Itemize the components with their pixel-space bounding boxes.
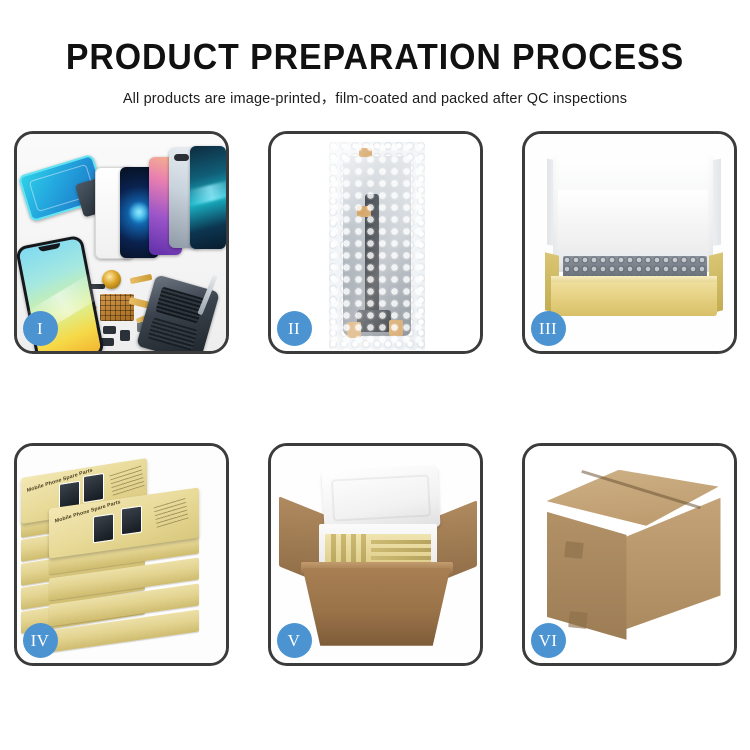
process-step-2: II bbox=[268, 131, 483, 354]
plastic-gloss bbox=[329, 142, 425, 350]
retail-box-edge bbox=[371, 556, 431, 560]
box-printed-text bbox=[153, 497, 188, 528]
box-product-image bbox=[83, 473, 104, 503]
carton-tape-patch bbox=[568, 611, 588, 629]
step-badge-6: VI bbox=[531, 623, 566, 658]
step-badge-1: I bbox=[23, 311, 58, 346]
process-step-5: V bbox=[268, 443, 483, 666]
retail-box-edge bbox=[371, 540, 431, 544]
carton-body bbox=[303, 568, 451, 646]
retail-box-edge bbox=[371, 548, 431, 552]
spare-part-chip bbox=[120, 330, 130, 341]
step-badge-4: IV bbox=[23, 623, 58, 658]
foam-sheet bbox=[558, 190, 708, 252]
step-badge-5: V bbox=[277, 623, 312, 658]
process-step-3: III bbox=[522, 131, 737, 354]
process-step-grid: I II bbox=[0, 131, 750, 666]
page-subtitle: All products are image-printed，film-coat… bbox=[0, 87, 750, 108]
box-product-image bbox=[121, 505, 142, 535]
step-badge-3: III bbox=[531, 311, 566, 346]
carton-tape-patch bbox=[564, 541, 584, 559]
chip-array-part bbox=[100, 294, 134, 321]
process-step-4: Mobile Phone Spare Parts Mobile Phone Sp… bbox=[14, 443, 229, 666]
process-step-1: I bbox=[14, 131, 229, 354]
teal-wave-phone bbox=[190, 146, 226, 249]
page-header: PRODUCT PREPARATION PROCESS All products… bbox=[0, 0, 750, 108]
step-badge-2: II bbox=[277, 311, 312, 346]
box-product-image bbox=[93, 513, 114, 543]
process-step-6: VI bbox=[522, 443, 737, 666]
foam-box-lid bbox=[321, 465, 440, 533]
spare-part-chip bbox=[103, 326, 116, 334]
box-printed-text bbox=[109, 464, 144, 495]
page-title: PRODUCT PREPARATION PROCESS bbox=[23, 38, 728, 76]
box-front-panel bbox=[551, 282, 717, 316]
